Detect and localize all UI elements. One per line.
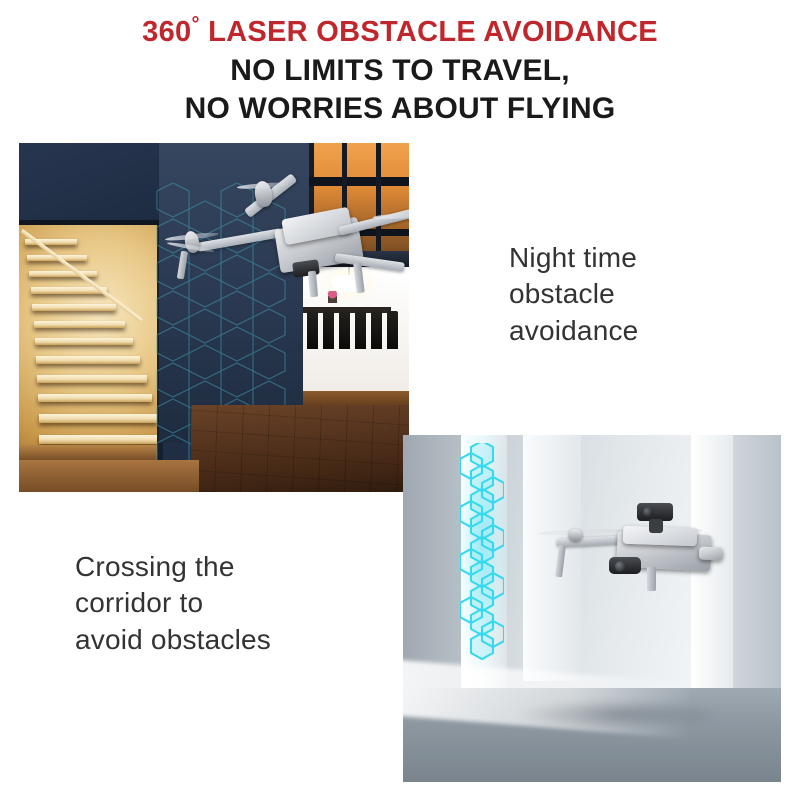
drone-corridor (531, 499, 721, 595)
corridor-obstacle-avoidance-photo (403, 435, 781, 782)
stair-tread (34, 321, 125, 328)
stair-tread (35, 338, 133, 345)
title-number: 360 (142, 16, 191, 48)
drone-arm (557, 535, 625, 547)
drone-camera-lens (615, 561, 626, 572)
corridor-right-wall (733, 435, 781, 692)
dining-chair (371, 311, 382, 349)
drone-leg (308, 271, 318, 298)
promo-page: 360° LASER OBSTACLE AVOIDANCE NO LIMITS … (0, 0, 800, 800)
drone-sensor-mount (649, 519, 663, 533)
drone-leg (647, 567, 656, 591)
drone-night (159, 179, 409, 314)
laser-hexagon-beam (460, 443, 504, 665)
caption-crossing-the-corridor: Crossing the corridor to avoid obstacles (75, 549, 395, 658)
drone-shadow (516, 699, 724, 730)
heading-block: 360° LASER OBSTACLE AVOIDANCE NO LIMITS … (0, 16, 800, 128)
page-title: 360° LASER OBSTACLE AVOIDANCE (0, 16, 800, 48)
drone-arm (334, 253, 405, 272)
drone-leg (353, 263, 365, 294)
dining-chairs (303, 311, 409, 355)
degree-symbol: ° (191, 13, 199, 35)
caption-night-time-obstacle-avoidance: Night time obstacle avoidance (509, 240, 779, 349)
night-obstacle-avoidance-photo (19, 143, 409, 492)
foreground-ground (19, 460, 199, 492)
dining-chair (387, 311, 398, 349)
title-rest: LASER OBSTACLE AVOIDANCE (200, 16, 658, 48)
stair-tread (37, 375, 147, 383)
drone-battery (699, 546, 724, 560)
subtitle-line-1: NO LIMITS TO TRAVEL, (0, 53, 800, 90)
patio-paving-joints (191, 405, 409, 492)
stair-tread (36, 356, 140, 364)
dining-chair (355, 311, 366, 349)
subtitle-line-2: NO WORRIES ABOUT FLYING (0, 91, 800, 128)
drone-leg (177, 251, 188, 280)
stair-tread (38, 394, 152, 402)
dining-chair (339, 311, 350, 349)
drone-motor (569, 529, 582, 541)
stair-tread (32, 304, 116, 311)
dining-chair (323, 311, 334, 349)
drone-sensor-lens (643, 507, 653, 517)
dining-chair (307, 311, 318, 349)
drone-leg (555, 545, 566, 578)
